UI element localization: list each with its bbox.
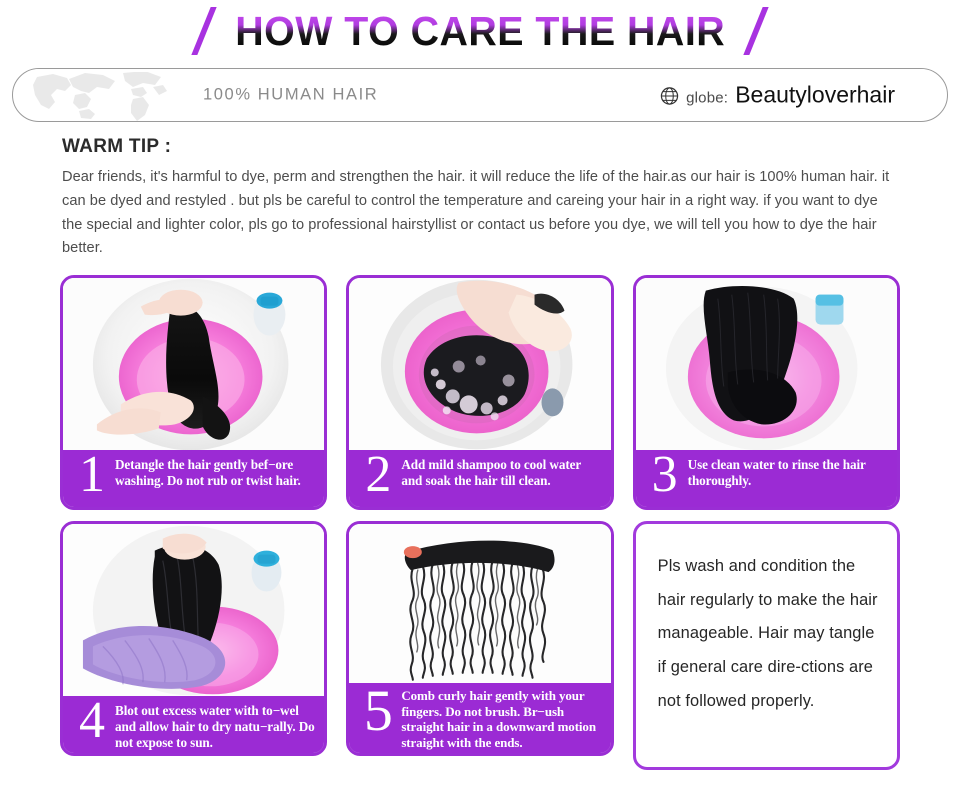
rinsing-hair-photo [636,278,897,450]
step-text-3: Use clean water to rinse the hair thorou… [688,453,889,488]
globe-label: globe: [686,90,728,107]
step-text-1: Detangle the hair gently bef−ore washing… [115,453,316,488]
step-caption-1: 1 Detangle the hair gently bef−ore washi… [63,450,324,507]
warm-tip-section: WARM TIP : Dear friends, it's harmful to… [0,136,960,261]
step-card-1: 1 Detangle the hair gently bef−ore washi… [60,275,327,510]
hands-washing-hair-photo [63,278,324,450]
step-text-2: Add mild shampoo to cool water and soak … [401,453,602,488]
step-number-4: 4 [69,697,115,745]
step-photo-3 [636,278,897,450]
care-steps-grid: 1 Detangle the hair gently bef−ore washi… [0,275,960,770]
step-number-1: 1 [69,451,115,499]
care-note-text: Pls wash and condition the hair regularl… [658,550,879,718]
towel-blotting-photo [63,524,324,696]
brand-name: Beautyloverhair [735,82,895,109]
step-caption-5: 5 Comb curly hair gently with your finge… [349,683,610,753]
step-caption-4: 4 Blot out excess water with to−wel and … [63,696,324,753]
step-card-2: 2 Add mild shampoo to cool water and soa… [346,275,613,510]
step-photo-4 [63,524,324,696]
step-photo-2 [349,278,610,450]
globe-icon [660,87,679,106]
step-card-4: 4 Blot out excess water with to−wel and … [60,521,327,756]
banner-notch-right [543,68,948,72]
care-note-card: Pls wash and condition the hair regularl… [633,521,900,770]
slash-right-icon [739,5,773,57]
step-card-5: 5 Comb curly hair gently with your finge… [346,521,613,756]
warm-tip-heading: WARM TIP : [62,136,902,158]
step-number-2: 2 [355,451,401,499]
banner-notch-left [23,68,463,72]
wavy-hair-weft-photo [349,524,610,683]
step-caption-2: 2 Add mild shampoo to cool water and soa… [349,450,610,507]
step-photo-5 [349,524,610,683]
shampoo-foam-photo [349,278,610,450]
step-number-3: 3 [642,451,688,499]
brand-banner: 100% HUMAN HAIR globe: Beautyloverhair [12,68,948,122]
step-number-5: 5 [355,684,401,737]
step-card-3: 3 Use clean water to rinse the hair thor… [633,275,900,510]
world-map-icon [27,69,187,122]
slash-left-icon [187,5,221,57]
brand-group: globe: Beautyloverhair [660,82,895,109]
page-title: HOW TO CARE THE HAIR [235,11,725,52]
page-header: HOW TO CARE THE HAIR [0,0,960,62]
step-text-4: Blot out excess water with to−wel and al… [115,699,316,750]
warm-tip-body: Dear friends, it's harmful to dye, perm … [62,166,902,261]
banner-left-label: 100% HUMAN HAIR [203,86,378,105]
step-text-5: Comb curly hair gently with your fingers… [401,686,602,750]
step-caption-3: 3 Use clean water to rinse the hair thor… [636,450,897,507]
step-photo-1 [63,278,324,450]
